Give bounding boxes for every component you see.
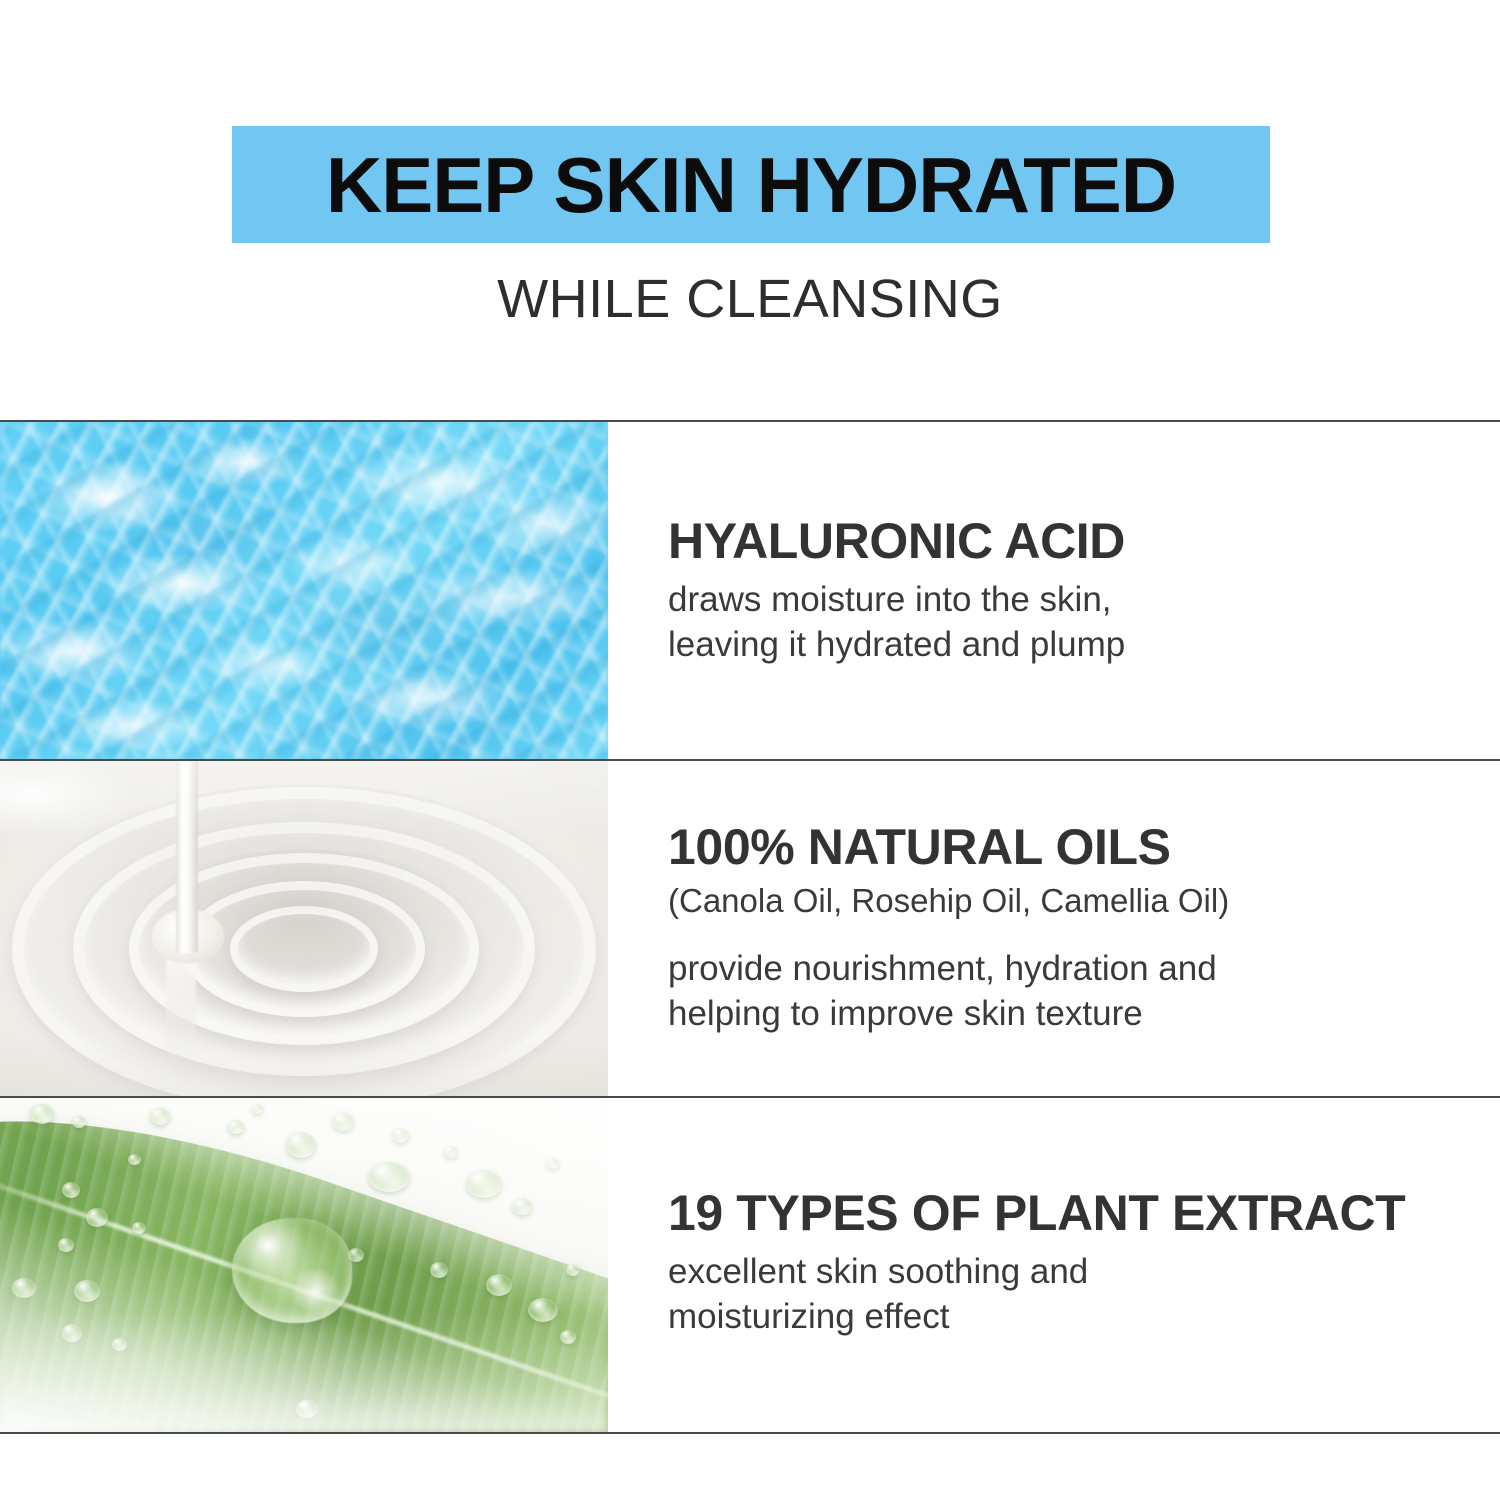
dew-drop [566,1264,580,1276]
feature-body-line1: excellent skin soothing and [668,1250,1468,1295]
feature-body-line2: moisturizing effect [668,1295,1468,1340]
feature-title: HYALURONIC ACID [668,514,1468,568]
dew-drop [466,1170,502,1198]
cream-surface [0,761,608,1096]
dew-drop [228,1120,244,1134]
dew-drop [252,1104,263,1114]
feature-title: 100% NATURAL OILS [668,820,1468,874]
page-subtitle: WHILE CLEANSING [0,272,1500,326]
dew-drop [368,1162,410,1192]
dew-drop [486,1274,512,1296]
dew-drop [62,1182,80,1198]
feature-body-line2: leaving it hydrated and plump [668,623,1468,668]
dew-drop-large [232,1218,352,1323]
dew-drop [86,1208,108,1227]
water-texture [0,422,608,759]
divider-bottom [0,1432,1500,1434]
dew-drop [546,1158,559,1169]
feature-body-line1: draws moisture into the skin, [668,578,1468,623]
cream-pour-photo [0,761,608,1096]
cream-vignette [0,761,608,1096]
dew-drop [332,1112,354,1131]
feature-row-plant-extract: 19 TYPES OF PLANT EXTRACT excellent skin… [0,1098,1500,1432]
feature-copy-natural-oils: 100% NATURAL OILS (Canola Oil, Rosehip O… [668,761,1468,1096]
dew-drop [392,1128,409,1143]
feature-body-line2: helping to improve skin texture [668,992,1468,1037]
feature-copy-hyaluronic-acid: HYALURONIC ACID draws moisture into the … [668,422,1468,759]
feature-copy-plant-extract: 19 TYPES OF PLANT EXTRACT excellent skin… [668,1098,1468,1432]
feature-row-natural-oils: 100% NATURAL OILS (Canola Oil, Rosehip O… [0,761,1500,1096]
page-title: KEEP SKIN HYDRATED [326,146,1176,224]
dew-drop [12,1278,36,1298]
leaf-depth-blur [0,1312,608,1432]
feature-body-line1: provide nourishment, hydration and [668,947,1468,992]
header-section: KEEP SKIN HYDRATED WHILE CLEANSING [0,0,1500,421]
title-banner: KEEP SKIN HYDRATED [232,126,1270,243]
water-ripple-photo [0,422,608,759]
dew-drop [430,1262,448,1278]
dew-drop [30,1104,54,1124]
green-leaf-dew-photo [0,1098,608,1432]
feature-subtitle: (Canola Oil, Rosehip Oil, Camellia Oil) [668,880,1468,921]
dew-drop [58,1238,74,1252]
dew-drop [444,1146,458,1158]
dew-drop [72,1116,86,1128]
dew-drop [286,1132,316,1158]
feature-row-hyaluronic-acid: HYALURONIC ACID draws moisture into the … [0,422,1500,759]
dew-drop [150,1108,170,1125]
dew-drop [128,1154,141,1165]
dew-drop [512,1198,532,1215]
feature-title: 19 TYPES OF PLANT EXTRACT [668,1186,1468,1240]
dew-drop [132,1222,146,1234]
dew-drop [74,1280,100,1302]
leaf-scene [0,1098,608,1432]
